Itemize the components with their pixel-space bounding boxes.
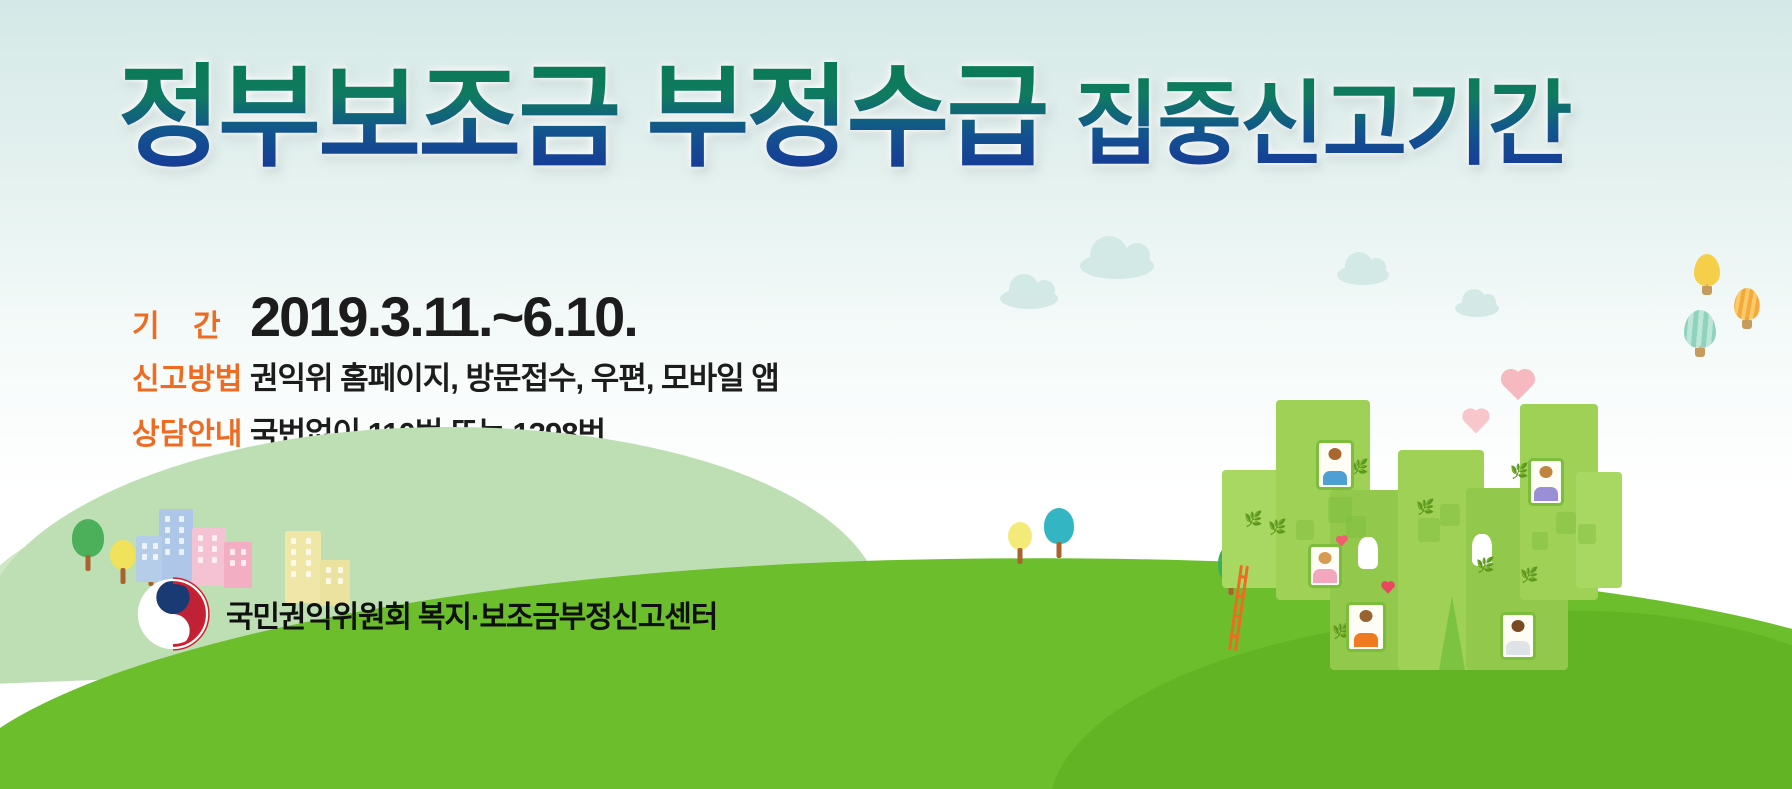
info-label: 신고방법 [132, 354, 250, 398]
government-subsidy-report-banner: 정부보조금 부정수급 집중신고기간 기 간 2019.3.11.~6.10. 신… [0, 0, 1792, 789]
window-with-person [1528, 458, 1564, 506]
info-value: 2019.3.11.~6.10. [250, 288, 637, 347]
conifer-tree-icon [1439, 596, 1465, 670]
hot-air-balloon-icon [1734, 288, 1760, 320]
window-with-person [1316, 440, 1354, 490]
info-label: 상담안내 [132, 409, 250, 453]
footer-logo-block: 국민권익위원회 복지·보조금부정신고센터 [136, 577, 717, 651]
organization-name: 국민권익위원회 복지·보조금부정신고센터 [226, 592, 717, 636]
title-part-2: 집중신고기간 [1075, 74, 1571, 176]
hot-air-balloon-icon [1684, 310, 1716, 348]
title-part-1: 정부보조금 부정수급 [118, 55, 1046, 180]
yellow-tree-icon [110, 540, 136, 570]
blue-building-icon [159, 509, 193, 581]
banner-title-block: 정부보조금 부정수급 집중신고기간 [118, 62, 1698, 202]
info-value: 권익위 홈페이지, 방문접수, 우편, 모바일 앱 [250, 353, 779, 398]
cloud-icon [1000, 288, 1058, 309]
info-row-report-method: 신고방법 권익위 홈페이지, 방문접수, 우편, 모바일 앱 [132, 353, 779, 398]
cloud-icon [1337, 265, 1389, 285]
info-row-period: 기 간 2019.3.11.~6.10. [132, 288, 779, 347]
cloud-icon [1455, 300, 1499, 317]
heart-icon [1504, 372, 1532, 400]
blue-building-icon [136, 536, 162, 582]
page-title: 정부보조금 부정수급 집중신고기간 [118, 62, 1698, 174]
heart-icon [1465, 411, 1488, 434]
w-shaped-green-building-illustration: 🌿 🌿 🌿 🌿 🌿 🌿 🌿 🌿 🌿 [1180, 372, 1610, 672]
window-with-person [1500, 612, 1536, 660]
taeguk-emblem-icon [136, 577, 210, 651]
window-with-person [1346, 602, 1386, 652]
cloud-icon [1080, 253, 1154, 279]
teal-tree-icon [1044, 508, 1074, 544]
yellow-tree-icon [1008, 522, 1032, 550]
window-with-person [1308, 544, 1342, 588]
green-tree-icon [72, 519, 104, 557]
hot-air-balloon-icon [1694, 254, 1720, 286]
info-label: 기 간 [132, 301, 250, 345]
